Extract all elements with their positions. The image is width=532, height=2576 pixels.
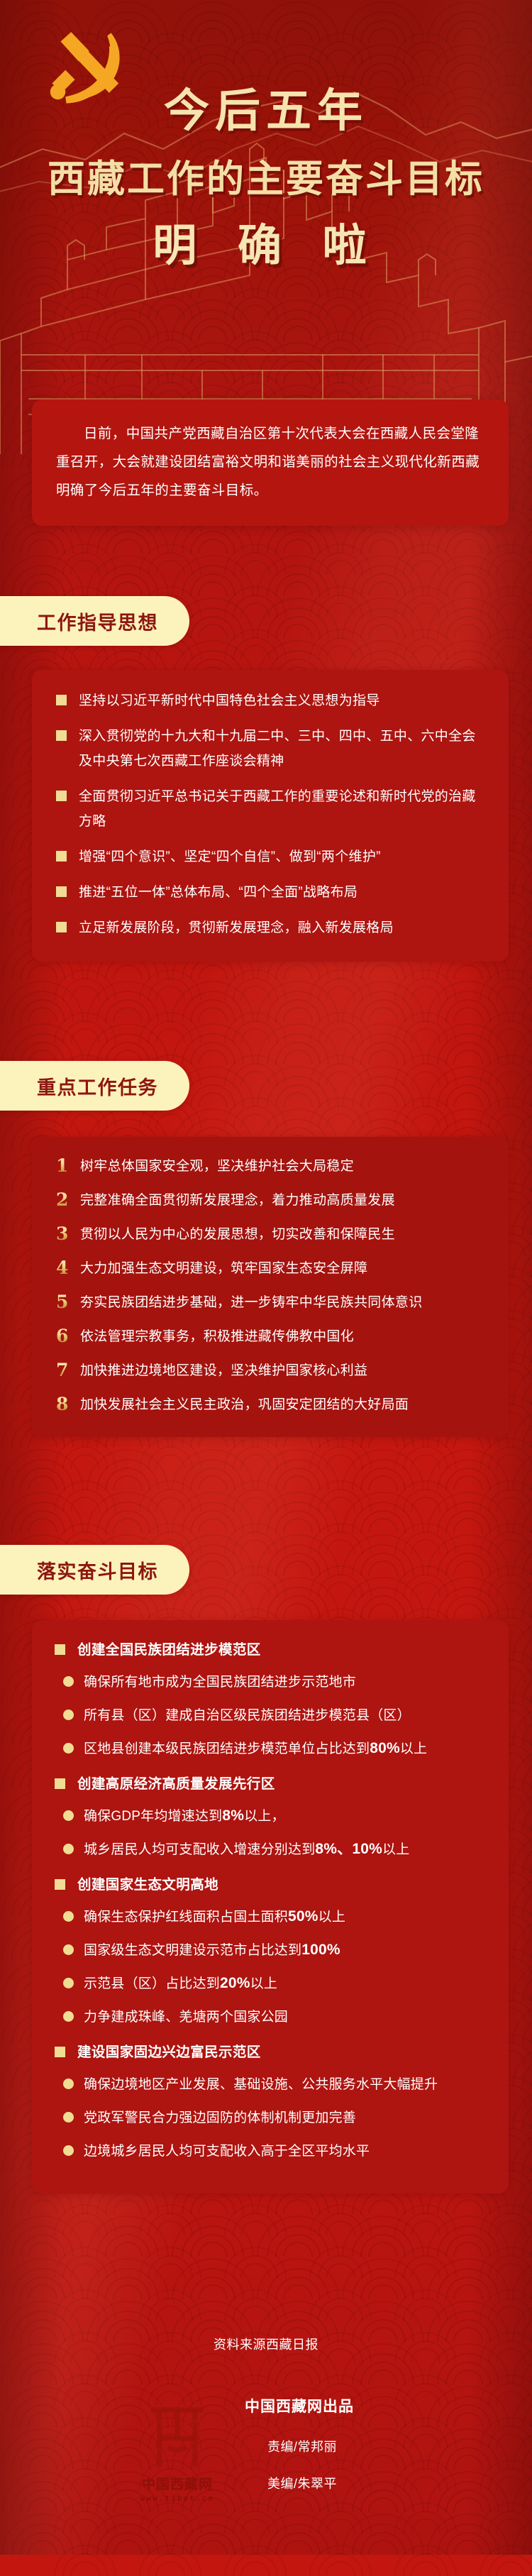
round-bullet-icon (63, 1710, 74, 1720)
credit-editor: 责编/常邦丽 (267, 2437, 337, 2455)
goal-item-text: 城乡居民人均可支配收入增速分别达到8%、10%以上 (84, 1837, 409, 1862)
list-item: 国家级生态文明建设示范市占比达到100% (55, 1938, 489, 1963)
round-bullet-icon (63, 1743, 74, 1754)
section-card-goals: 创建全国民族团结进步模范区 确保所有地市成为全国民族团结进步示范地市 所有县（区… (32, 1620, 509, 2194)
round-bullet-icon (63, 1810, 74, 1821)
goal-group-heading: 创建高原经济高质量发展先行区 (55, 1773, 489, 1795)
goal-group-heading-text: 创建全国民族团结进步模范区 (77, 1639, 261, 1661)
task-text: 加快发展社会主义民主政治，巩固安定团结的大好局面 (80, 1392, 409, 1417)
task-number: 8 (56, 1392, 80, 1416)
list-item-text: 推进“五位一体”总体布局、“四个全面”战略布局 (79, 880, 358, 905)
goal-text-prefix: 确保GDP年均增速达到 (84, 1809, 222, 1824)
intro-card: 日前，中国共产党西藏自治区第十次代表大会在西藏人民会堂隆重召开，大会就建设团结富… (32, 400, 509, 526)
goal-item-text: 党政军警民合力强边固防的体制机制更加完善 (84, 2106, 356, 2130)
logo-mark-icon (138, 2403, 216, 2471)
list-item: 党政军警民合力强边固防的体制机制更加完善 (55, 2106, 489, 2130)
goal-value: 100% (301, 1942, 340, 1958)
goal-text-prefix: 示范县（区）占比达到 (84, 1976, 220, 1991)
list-item: 增强“四个意识”、坚定“四个自信”、做到“两个维护” (56, 844, 487, 869)
section-card-guiding-thought: 坚持以习近平新时代中国特色社会主义思想为指导 深入贯彻党的十九大和十九届二中、三… (32, 670, 509, 962)
list-item-text: 立足新发展阶段，贯彻新发展理念，融入新发展格局 (79, 915, 394, 940)
section-tab-guiding-thought[interactable]: 工作指导思想 (0, 596, 189, 646)
header-banner: 今后五年 西藏工作的主要奋斗目标 明 确 啦 (0, 0, 532, 468)
table-row: 5夯实民族团结进步基础，进一步铸牢中华民族共同体意识 (56, 1290, 487, 1315)
table-row: 6依法管理宗教事务，积极推进藏传佛教中国化 (56, 1324, 487, 1349)
goal-item-text: 确保生态保护红线面积占国土面积50%以上 (84, 1905, 345, 1930)
goal-group: 建设国家固边兴边富民示范区 确保边境地区产业发展、基础设施、公共服务水平大幅提升… (55, 2041, 489, 2164)
title-line-2: 西藏工作的主要奋斗目标 (0, 149, 532, 203)
goal-value: 80% (370, 1740, 400, 1756)
list-item-text: 增强“四个意识”、坚定“四个自信”、做到“两个维护” (79, 844, 381, 869)
goal-text-prefix: 确保边境地区产业发展、基础设施、公共服务水平大幅提升 (84, 2077, 438, 2092)
list-item-text: 深入贯彻党的十九大和十九届二中、三中、四中、五中、六中全会及中央第七次西藏工作座… (79, 724, 487, 774)
goal-text-prefix: 城乡居民人均可支配收入增速分别达到 (84, 1842, 315, 1857)
goal-group-heading-text: 创建高原经济高质量发展先行区 (77, 1773, 275, 1795)
title-line-1: 今后五年 (0, 75, 532, 140)
goal-item-text: 力争建成珠峰、羌塘两个国家公园 (84, 2005, 288, 2030)
goal-value: 8%、10% (315, 1841, 382, 1857)
intro-paragraph: 日前，中国共产党西藏自治区第十次代表大会在西藏人民会堂隆重召开，大会就建设团结富… (56, 419, 484, 505)
square-bullet-icon (56, 922, 67, 932)
square-bullet-icon (56, 886, 67, 897)
round-bullet-icon (63, 1844, 74, 1854)
square-bullet-icon (55, 1879, 65, 1890)
list-item: 全面贯彻习近平总书记关于西藏工作的重要论述和新时代党的治藏方略 (56, 784, 487, 834)
goal-item-text: 确保边境地区产业发展、基础设施、公共服务水平大幅提升 (84, 2072, 438, 2097)
table-row: 8加快发展社会主义民主政治，巩固安定团结的大好局面 (56, 1392, 487, 1417)
goal-value: 20% (220, 1975, 250, 1991)
goal-value: 8% (222, 1807, 244, 1824)
goal-text-prefix: 区地县创建本级民族团结进步模范单位占比达到 (84, 1741, 370, 1756)
task-text: 依法管理宗教事务，积极推进藏传佛教中国化 (80, 1324, 354, 1349)
goal-text-suffix: 以上 (318, 1910, 345, 1925)
task-number: 1 (56, 1154, 80, 1178)
goal-group-heading-text: 建设国家固边兴边富民示范区 (77, 2041, 261, 2064)
square-bullet-icon (56, 851, 67, 862)
list-item: 城乡居民人均可支配收入增速分别达到8%、10%以上 (55, 1837, 489, 1862)
goal-item-text: 示范县（区）占比达到20%以上 (84, 1971, 277, 1996)
goal-item-text: 区地县创建本级民族团结进步模范单位占比达到80%以上 (84, 1736, 427, 1761)
goal-group: 创建全国民族团结进步模范区 确保所有地市成为全国民族团结进步示范地市 所有县（区… (55, 1639, 489, 1761)
logo-name: 中国西藏网 (131, 2474, 223, 2493)
section-tab-goals[interactable]: 落实奋斗目标 (0, 1545, 189, 1595)
logo-url: www.tibet.cn (131, 2494, 223, 2503)
table-row: 3贯彻以人民为中心的发展思想，切实改善和保障民生 (56, 1222, 487, 1247)
list-item: 立足新发展阶段，贯彻新发展理念，融入新发展格局 (56, 915, 487, 940)
list-item: 确保生态保护红线面积占国土面积50%以上 (55, 1905, 489, 1930)
task-number: 4 (56, 1256, 80, 1280)
task-number: 3 (56, 1222, 80, 1246)
credit-designer: 美编/朱翠平 (267, 2474, 337, 2492)
source-line: 资料来源西藏日报 (0, 2335, 532, 2353)
table-row: 7加快推进边境地区建设，坚决维护国家核心利益 (56, 1358, 487, 1383)
goal-text-prefix: 确保生态保护红线面积占国土面积 (84, 1910, 288, 1925)
list-item: 所有县（区）建成自治区级民族团结进步模范县（区） (55, 1703, 489, 1728)
goal-item-text: 确保所有地市成为全国民族团结进步示范地市 (84, 1670, 356, 1695)
round-bullet-icon (63, 1676, 74, 1687)
round-bullet-icon (63, 2145, 74, 2156)
task-text: 贯彻以人民为中心的发展思想，切实改善和保障民生 (80, 1222, 395, 1247)
list-item: 坚持以习近平新时代中国特色社会主义思想为指导 (56, 688, 487, 713)
task-number: 6 (56, 1324, 80, 1348)
square-bullet-icon (55, 1644, 65, 1655)
task-text: 加快推进边境地区建设，坚决维护国家核心利益 (80, 1358, 367, 1383)
guiding-thought-list: 坚持以习近平新时代中国特色社会主义思想为指导 深入贯彻党的十九大和十九届二中、三… (32, 670, 509, 962)
list-item-text: 全面贯彻习近平总书记关于西藏工作的重要论述和新时代党的治藏方略 (79, 784, 487, 834)
goal-text-suffix: 以上， (244, 1809, 285, 1824)
round-bullet-icon (63, 2112, 74, 2123)
goals-list: 创建全国民族团结进步模范区 确保所有地市成为全国民族团结进步示范地市 所有县（区… (32, 1620, 509, 2194)
title-line-3: 明 确 啦 (0, 209, 532, 273)
list-item: 推进“五位一体”总体布局、“四个全面”战略布局 (56, 880, 487, 905)
list-item: 确保所有地市成为全国民族团结进步示范地市 (55, 1670, 489, 1695)
goal-group: 创建国家生态文明高地 确保生态保护红线面积占国土面积50%以上 国家级生态文明建… (55, 1873, 489, 2030)
tibet-net-logo: 中国西藏网 www.tibet.cn (131, 2403, 223, 2509)
task-number: 7 (56, 1358, 80, 1382)
square-bullet-icon (56, 730, 67, 741)
list-item: 边境城乡居民人均可支配收入高于全区平均水平 (55, 2139, 489, 2164)
goal-group: 创建高原经济高质量发展先行区 确保GDP年均增速达到8%以上， 城乡居民人均可支… (55, 1773, 489, 1862)
task-text: 夯实民族团结进步基础，进一步铸牢中华民族共同体意识 (80, 1290, 423, 1315)
square-bullet-icon (56, 695, 67, 705)
goal-item-text: 所有县（区）建成自治区级民族团结进步模范县（区） (84, 1703, 411, 1728)
list-item: 力争建成珠峰、羌塘两个国家公园 (55, 2005, 489, 2030)
goal-text-prefix: 确保所有地市成为全国民族团结进步示范地市 (84, 1675, 356, 1690)
round-bullet-icon (63, 2079, 74, 2089)
section-tab-label: 工作指导思想 (37, 607, 158, 635)
key-tasks-list: 1树牢总体国家安全观，坚决维护社会大局稳定 2完整准确全面贯彻新发展理念，着力推… (32, 1137, 509, 1437)
square-bullet-icon (55, 2047, 65, 2057)
round-bullet-icon (63, 1911, 74, 1922)
goal-group-heading: 建设国家固边兴边富民示范区 (55, 2041, 489, 2064)
goal-text-prefix: 所有县（区）建成自治区级民族团结进步模范县（区） (84, 1708, 411, 1723)
task-number: 5 (56, 1290, 80, 1314)
goal-text-prefix: 力争建成珠峰、羌塘两个国家公园 (84, 2010, 288, 2025)
goal-text-suffix: 以上 (400, 1741, 427, 1756)
goal-item-text: 边境城乡居民人均可支配收入高于全区平均水平 (84, 2139, 370, 2164)
round-bullet-icon (63, 1978, 74, 1988)
square-bullet-icon (55, 1778, 65, 1789)
list-item: 区地县创建本级民族团结进步模范单位占比达到80%以上 (55, 1736, 489, 1761)
task-text: 树牢总体国家安全观，坚决维护社会大局稳定 (80, 1154, 354, 1179)
goal-text-suffix: 以上 (382, 1842, 409, 1857)
list-item: 确保边境地区产业发展、基础设施、公共服务水平大幅提升 (55, 2072, 489, 2097)
round-bullet-icon (63, 1944, 74, 1955)
table-row: 4大力加强生态文明建设，筑牢国家生态安全屏障 (56, 1256, 487, 1281)
goal-group-heading: 创建全国民族团结进步模范区 (55, 1639, 489, 1661)
list-item: 确保GDP年均增速达到8%以上， (55, 1804, 489, 1829)
list-item: 示范县（区）占比达到20%以上 (55, 1971, 489, 1996)
task-text: 大力加强生态文明建设，筑牢国家生态安全屏障 (80, 1256, 367, 1281)
table-row: 1树牢总体国家安全观，坚决维护社会大局稳定 (56, 1154, 487, 1179)
round-bullet-icon (63, 2011, 74, 2022)
section-tab-key-tasks[interactable]: 重点工作任务 (0, 1061, 189, 1111)
table-row: 2完整准确全面贯彻新发展理念，着力推动高质量发展 (56, 1188, 487, 1213)
goal-text-suffix: 以上 (250, 1976, 277, 1991)
goal-text-prefix: 党政军警民合力强边固防的体制机制更加完善 (84, 2110, 356, 2125)
section-card-key-tasks: 1树牢总体国家安全观，坚决维护社会大局稳定 2完整准确全面贯彻新发展理念，着力推… (32, 1137, 509, 1437)
section-tab-label: 重点工作任务 (37, 1072, 158, 1100)
goal-item-text: 确保GDP年均增速达到8%以上， (84, 1804, 285, 1829)
section-tab-label: 落实奋斗目标 (37, 1556, 158, 1584)
task-text: 完整准确全面贯彻新发展理念，着力推动高质量发展 (80, 1188, 395, 1213)
goal-group-heading-text: 创建国家生态文明高地 (77, 1873, 218, 1896)
goal-text-prefix: 国家级生态文明建设示范市占比达到 (84, 1943, 301, 1958)
goal-group-heading: 创建国家生态文明高地 (55, 1873, 489, 1896)
publisher-label: 中国西藏网出品 (245, 2395, 354, 2416)
list-item: 深入贯彻党的十九大和十九届二中、三中、四中、五中、六中全会及中央第七次西藏工作座… (56, 724, 487, 774)
list-item-text: 坚持以习近平新时代中国特色社会主义思想为指导 (79, 688, 380, 713)
goal-item-text: 国家级生态文明建设示范市占比达到100% (84, 1938, 340, 1963)
goal-value: 50% (288, 1908, 318, 1925)
goal-text-prefix: 边境城乡居民人均可支配收入高于全区平均水平 (84, 2144, 370, 2159)
task-number: 2 (56, 1188, 80, 1212)
square-bullet-icon (56, 791, 67, 801)
